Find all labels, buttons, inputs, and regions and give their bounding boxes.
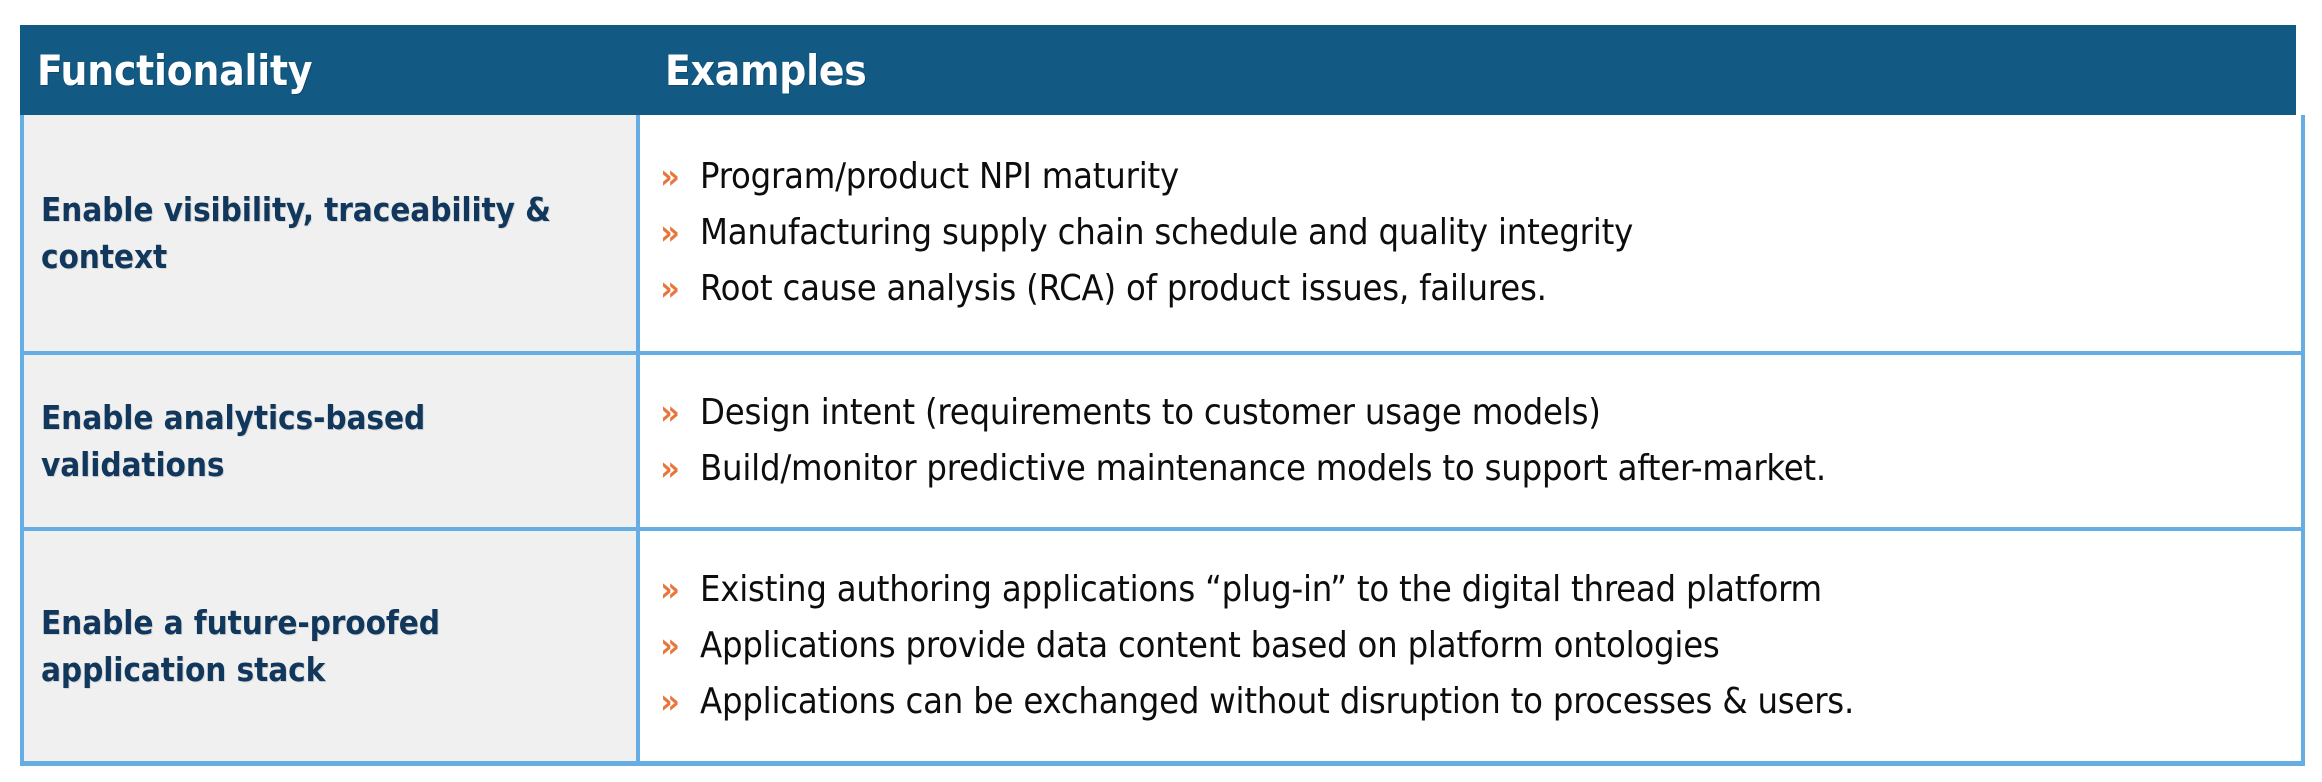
- list-item-text: Root cause analysis (RCA) of product iss…: [700, 269, 1567, 309]
- list-item-text: Design intent (requirements to customer …: [700, 393, 1621, 433]
- table-row: Enable analytics-based validations » Des…: [24, 351, 2301, 527]
- double-chevron-icon: »: [640, 626, 700, 666]
- list-item-text: Applications provide data content based …: [700, 626, 1740, 666]
- list-item-text: Applications can be exchanged without di…: [700, 682, 1874, 722]
- double-chevron-icon: »: [640, 269, 700, 309]
- list-item-text: Manufacturing supply chain schedule and …: [700, 213, 1653, 253]
- functionality-examples-table: Functionality Examples Enable visibility…: [20, 25, 2305, 766]
- functionality-label: Enable visibility, traceability & contex…: [41, 186, 616, 280]
- list-item: » Root cause analysis (RCA) of product i…: [640, 261, 2301, 317]
- functionality-label: Enable analytics-based validations: [41, 394, 616, 488]
- table-row: Enable a future-proofed application stac…: [24, 527, 2301, 761]
- double-chevron-icon: »: [640, 393, 700, 433]
- list-item: » Existing authoring applications “plug-…: [640, 562, 2301, 618]
- double-chevron-icon: »: [640, 213, 700, 253]
- list-item-text: Program/product NPI maturity: [700, 157, 1199, 197]
- double-chevron-icon: »: [640, 449, 700, 489]
- functionality-cell: Enable analytics-based validations: [24, 355, 640, 527]
- column-header-functionality-label: Functionality: [37, 46, 312, 95]
- examples-cell: » Design intent (requirements to custome…: [640, 355, 2301, 527]
- column-header-examples-label: Examples: [665, 46, 867, 95]
- table-body: Enable visibility, traceability & contex…: [20, 115, 2305, 766]
- list-item-text: Build/monitor predictive maintenance mod…: [700, 449, 1846, 489]
- column-header-functionality: Functionality: [20, 25, 640, 115]
- list-item: » Applications can be exchanged without …: [640, 674, 2301, 730]
- double-chevron-icon: »: [640, 682, 700, 722]
- double-chevron-icon: »: [640, 157, 700, 197]
- list-item-text: Existing authoring applications “plug-in…: [700, 570, 1842, 610]
- list-item: » Applications provide data content base…: [640, 618, 2301, 674]
- functionality-cell: Enable a future-proofed application stac…: [24, 531, 640, 761]
- examples-cell: » Existing authoring applications “plug-…: [640, 531, 2301, 761]
- double-chevron-icon: »: [640, 570, 700, 610]
- column-header-examples: Examples: [640, 25, 2296, 115]
- table-header-row: Functionality Examples: [20, 25, 2296, 115]
- examples-cell: » Program/product NPI maturity » Manufac…: [640, 115, 2301, 351]
- table-row: Enable visibility, traceability & contex…: [24, 115, 2301, 351]
- functionality-cell: Enable visibility, traceability & contex…: [24, 115, 640, 351]
- list-item: » Build/monitor predictive maintenance m…: [640, 441, 2301, 497]
- list-item: » Program/product NPI maturity: [640, 149, 2301, 205]
- list-item: » Design intent (requirements to custome…: [640, 385, 2301, 441]
- list-item: » Manufacturing supply chain schedule an…: [640, 205, 2301, 261]
- functionality-label: Enable a future-proofed application stac…: [41, 599, 616, 693]
